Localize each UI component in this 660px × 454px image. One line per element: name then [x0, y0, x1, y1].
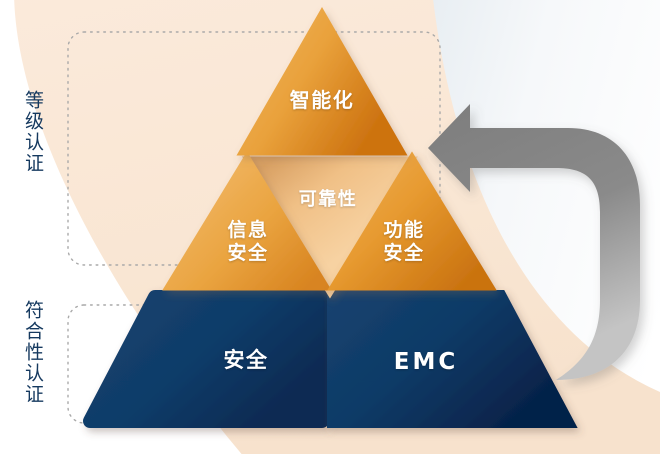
tile-emc-shape	[334, 297, 566, 421]
middle-row	[172, 162, 487, 288]
diagram-artwork	[0, 0, 660, 454]
tile-intelligence-shape	[246, 18, 398, 150]
diagram-canvas: 等级认证 符合性认证 智能化 信息 安全 可靠性 功能 安全 安全 EMC	[0, 0, 660, 454]
side-label-level-certification: 等级认证	[22, 90, 42, 174]
apex-row	[246, 18, 398, 150]
tile-safety-shape	[90, 297, 322, 421]
base-row	[90, 297, 566, 421]
side-label-conformity-certification: 符合性认证	[22, 300, 42, 405]
